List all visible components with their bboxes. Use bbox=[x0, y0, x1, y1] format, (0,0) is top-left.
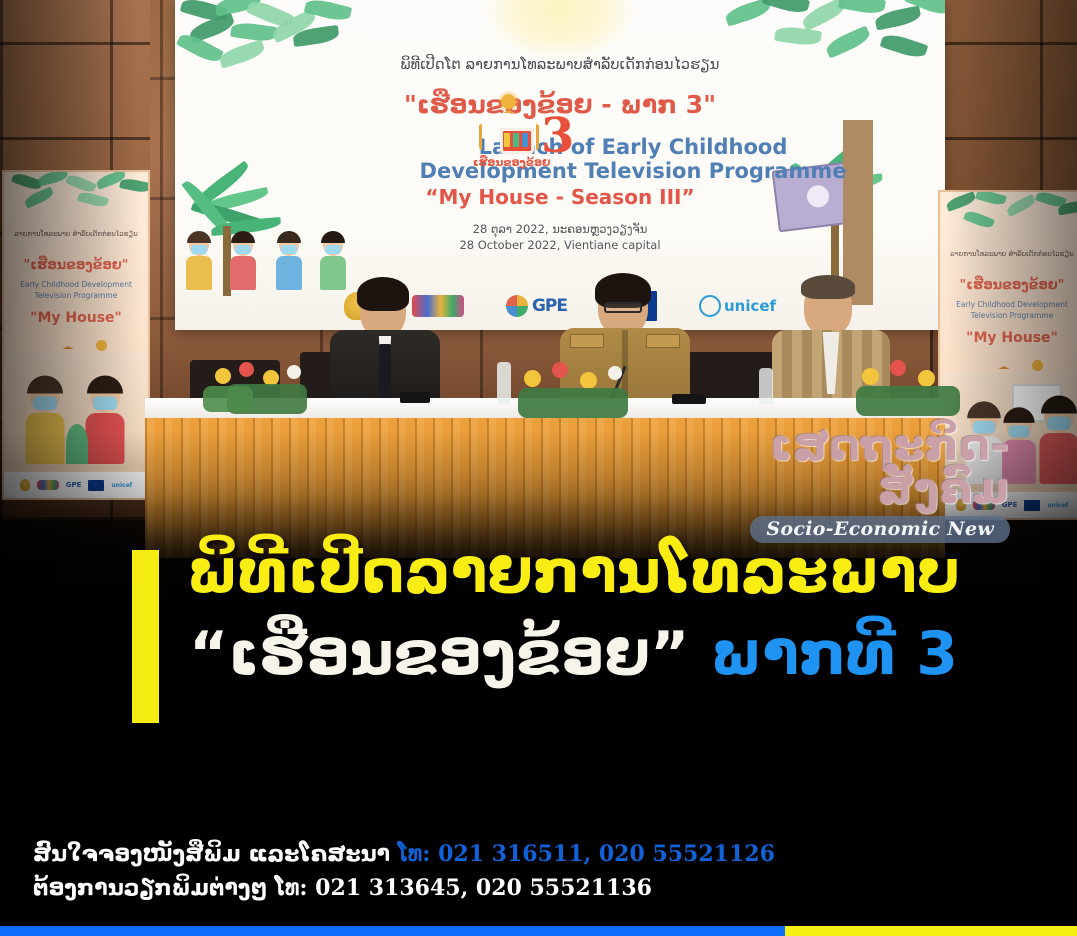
rollup-lao-show: "ເຮືອນຂອງຂ້ອຍ" bbox=[940, 278, 1077, 293]
rollup-english-title: Early Childhood Development Television P… bbox=[940, 300, 1077, 322]
sun-icon bbox=[1032, 360, 1043, 371]
rollup-english-line1: Early Childhood Development bbox=[4, 280, 148, 291]
bottom-bar-yellow bbox=[785, 926, 1077, 936]
backdrop-english-title: Launch of Early Childhood Development Te… bbox=[313, 135, 945, 184]
unicef-logo-label: unicef bbox=[724, 297, 776, 315]
contact-block: ສົນໃຈຈອງໜັງສືພິມ ແລະໂຄສະນາ ໂທ: 021 31651… bbox=[33, 838, 1043, 905]
rollup-lao-subtitle: ລາຍການໂທລະພາບ ສໍາລັບເດັກກ່ອນໄວຮຽນ bbox=[940, 250, 1077, 260]
contact-line-1-phone[interactable]: ໂທ: 021 316511, 020 55521126 bbox=[398, 841, 775, 867]
rollup-english-line2: Television Programme bbox=[4, 291, 148, 302]
bottom-color-bars bbox=[0, 926, 1077, 936]
lao-government-emblem-logo bbox=[20, 479, 30, 491]
rollup-lao-show: "ເຮືອນຂອງຂ້ອຍ" bbox=[4, 258, 148, 273]
water-bottle bbox=[759, 368, 773, 404]
child-illustration bbox=[279, 234, 302, 290]
contact-line-2-lao: ຕ້ອງການວຽກພິມຕ່າງໆ bbox=[33, 876, 267, 901]
rollup-photo-illustration bbox=[4, 352, 148, 470]
unicef-logo: unicef bbox=[699, 292, 776, 320]
child-illustration bbox=[90, 380, 125, 464]
contact-line-2: ຕ້ອງການວຽກພິມຕ່າງໆ ໂທ: 021 313645, 020 5… bbox=[33, 872, 1043, 906]
european-union-flag-logo bbox=[88, 480, 104, 491]
television-icon bbox=[500, 128, 534, 154]
european-union-flag-logo bbox=[1024, 500, 1040, 511]
unicef-logo: unicef bbox=[1047, 502, 1068, 509]
headline-line-1: ພິທີເປີດລາຍການໂທລະພາບ bbox=[0, 542, 1077, 603]
headline-line-2-season: ພາກທີ 3 bbox=[710, 619, 958, 689]
foliage-decoration bbox=[940, 192, 1077, 238]
backdrop-english-show: “My House - Season III” bbox=[175, 185, 945, 209]
news-graphic-canvas: ພິທີເປີດໂຕ ລາຍການໂທລະພາບສໍາລັບເດັກກ່ອນໄວ… bbox=[0, 0, 1077, 936]
gpe-logo: GPE bbox=[506, 292, 567, 320]
rollup-english-title: Early Childhood Development Television P… bbox=[4, 280, 148, 302]
sun-illustration bbox=[485, 0, 635, 60]
name-plate bbox=[400, 392, 430, 403]
flower-arrangement bbox=[205, 362, 315, 414]
backdrop-lao-title: ພິທີເປີດໂຕ ລາຍການໂທລະພາບສໍາລັບເດັກກ່ອນໄວ… bbox=[175, 57, 945, 73]
backdrop-english-line1: Launch of Early Childhood bbox=[313, 135, 945, 159]
rollup-english-line1: Early Childhood Development bbox=[940, 300, 1077, 311]
programme-logo: 3 ເຮືອນຂອງຂ້ອຍ bbox=[475, 96, 595, 168]
contact-line-1-lao: ສົນໃຈຈອງໜັງສືພິມ ແລະໂຄສະນາ bbox=[33, 842, 390, 867]
contact-line-2-phone[interactable]: ໂທ: 021 313645, 020 55521136 bbox=[275, 875, 652, 901]
bottom-bar-blue bbox=[0, 926, 785, 936]
childrens-programme-logo bbox=[37, 480, 59, 490]
foliage-decoration bbox=[4, 172, 148, 218]
sun-icon bbox=[96, 340, 107, 351]
rollup-partner-logos: GPE unicef bbox=[4, 472, 148, 498]
child-illustration bbox=[30, 380, 65, 464]
sun-icon bbox=[501, 94, 516, 109]
headline-line-2-title: “ເຮືອນຂອງຂ້ອຍ” bbox=[189, 619, 690, 689]
rollup-english-show: "My House" bbox=[4, 310, 148, 326]
flower-arrangement bbox=[510, 362, 640, 416]
publication-watermark: ເສດຖະກິດ-ສັງຄົມ Socio-Economic New bbox=[640, 425, 1010, 543]
unicef-logo: unicef bbox=[111, 482, 132, 489]
rollup-english-show: "My House" bbox=[940, 330, 1077, 346]
contact-line-1: ສົນໃຈຈອງໜັງສືພິມ ແລະໂຄສະນາ ໂທ: 021 31651… bbox=[33, 838, 1043, 872]
headline-line-2: “ເຮືອນຂອງຂ້ອຍ” ພາກທີ 3 bbox=[0, 624, 1077, 685]
child-illustration bbox=[233, 234, 256, 290]
child-illustration bbox=[1006, 411, 1036, 484]
rollup-banner-left: ລາຍການໂທລະພາບ ສໍາລັບເດັກກ່ອນໄວຮຽນ "ເຮືອນ… bbox=[2, 170, 150, 500]
watermark-lao-text: ເສດຖະກິດ-ສັງຄົມ bbox=[640, 425, 1010, 511]
water-bottle bbox=[497, 362, 511, 404]
backdrop-english-line2: Development Television Programme bbox=[313, 159, 945, 183]
programme-logo-caption: ເຮືອນຂອງຂ້ອຍ bbox=[473, 156, 550, 169]
child-illustration bbox=[189, 234, 212, 290]
name-plate bbox=[672, 394, 706, 404]
rollup-english-line2: Television Programme bbox=[940, 311, 1077, 322]
child-illustration bbox=[1044, 400, 1077, 484]
gpe-logo: GPE bbox=[66, 481, 82, 489]
flower-arrangement bbox=[850, 360, 970, 414]
rollup-lao-subtitle: ລາຍການໂທລະພາບ ສໍາລັບເດັກກ່ອນໄວຮຽນ bbox=[4, 230, 148, 240]
